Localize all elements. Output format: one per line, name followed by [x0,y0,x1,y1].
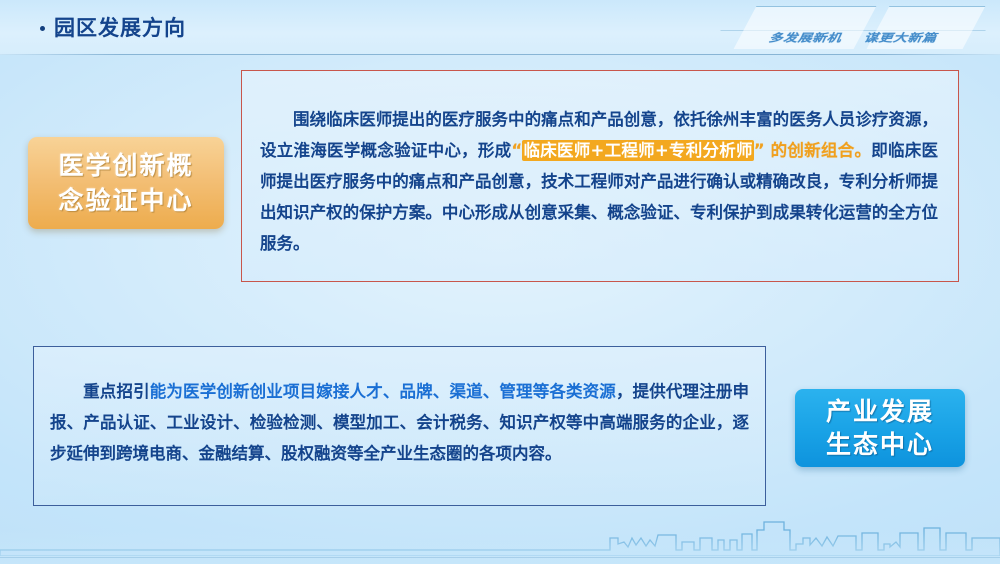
paragraph-medical-quote-close: ” [754,141,765,160]
badge-industry-ecosystem-center: 产业发展 生态中心 [795,389,965,467]
bottom-divider [0,557,1000,558]
page-title-group: 园区发展方向 [40,18,186,39]
paragraph-medical-quote-open: “ [511,141,522,160]
badge-industry-line-1: 产业发展 [826,395,934,428]
paragraph-industry-ecosystem: 重点招引能为医学创新创业项目嫁接人才、品牌、渠道、管理等各类资源，提供代理注册申… [50,376,749,469]
page-title: 园区发展方向 [54,18,186,39]
header-divider [0,54,1000,55]
paragraph-medical-innovation: 围绕临床医师提出的医疗服务中的痛点和产品创意，依托徐州丰富的医务人员诊疗资源，设… [260,104,938,259]
header-slogan-left: 多发展新机 [768,32,842,44]
panel-medical-innovation: 围绕临床医师提出的医疗服务中的痛点和产品创意，依托徐州丰富的医务人员诊疗资源，设… [241,70,959,282]
badge-medical-line-1: 医学创新概 [58,149,193,182]
panel-industry-ecosystem: 重点招引能为医学创新创业项目嫁接人才、品牌、渠道、管理等各类资源，提供代理注册申… [33,346,766,506]
paragraph-medical-highlight-1: 临床医师+工程师+专利分析师 [522,140,754,161]
badge-industry-line-2: 生态中心 [826,428,934,461]
paragraph-industry-highlight-1: 能为医学创新创业项目嫁接人才、品牌、渠道、管理等各类资源 [150,382,616,401]
badge-medical-line-2: 念验证中心 [58,184,193,217]
panel-medical-innovation-body: 围绕临床医师提出的医疗服务中的痛点和产品创意，依托徐州丰富的医务人员诊疗资源，设… [242,71,958,283]
slide-canvas: 园区发展方向 多发展新机 谋更大新篇 医学创新概 念验证中心 围绕临床医师提出的… [0,0,1000,564]
header-slogan-right: 谋更大新篇 [863,32,937,44]
bottom-gradient-fade [0,530,1000,564]
badge-medical-innovation-center: 医学创新概 念验证中心 [28,137,224,229]
panel-industry-ecosystem-body: 重点招引能为医学创新创业项目嫁接人才、品牌、渠道、管理等各类资源，提供代理注册申… [34,347,765,493]
paragraph-industry-part-1: 重点招引 [83,382,150,401]
paragraph-medical-highlight-2: 的创新组合。 [765,141,872,160]
header-slogan: 多发展新机 谋更大新篇 [768,30,985,46]
bullet-dot-icon [40,26,45,31]
